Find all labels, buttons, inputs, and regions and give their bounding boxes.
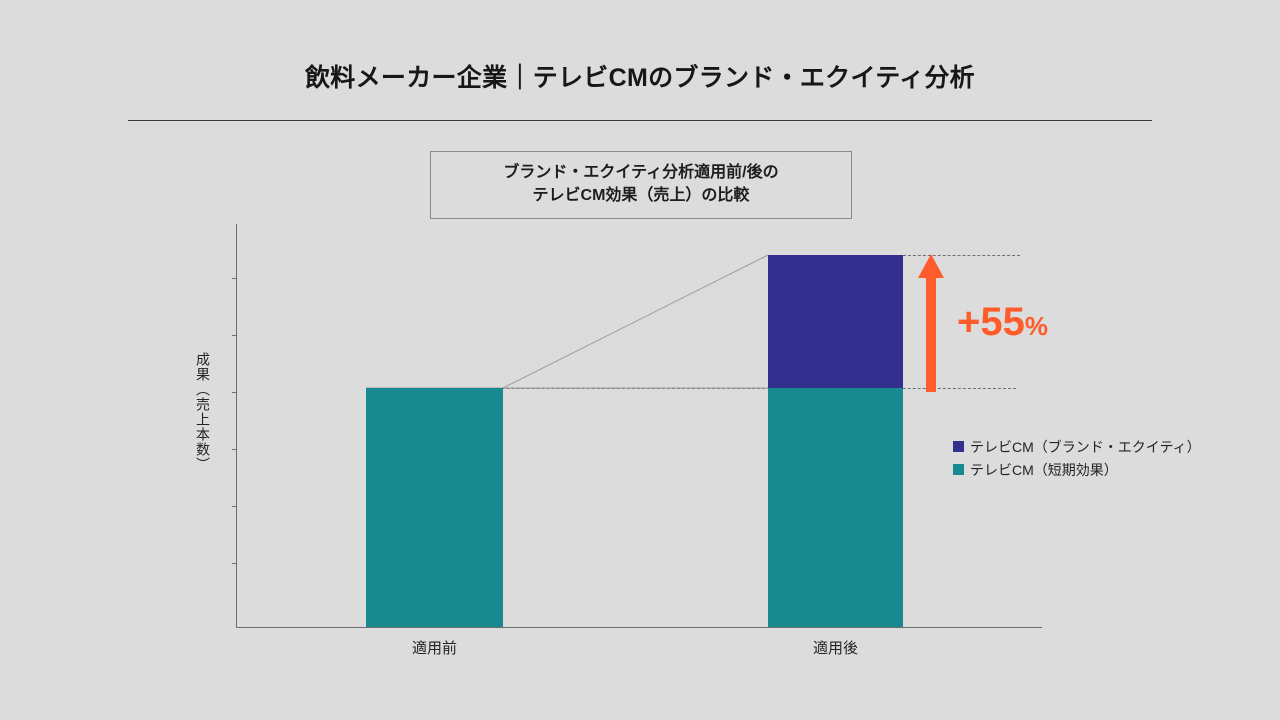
y-axis-tick <box>232 392 236 393</box>
legend-label-brand-equity: テレビCM（ブランド・エクイティ） <box>970 437 1201 457</box>
chart-legend: テレビCM（ブランド・エクイティ） テレビCM（短期効果） <box>953 435 1201 481</box>
uplift-value: +55 <box>957 300 1025 344</box>
chart-subtitle-box: ブランド・エクイティ分析適用前/後の テレビCM効果（売上）の比較 <box>430 151 852 219</box>
slide-canvas: 飲料メーカー企業｜テレビCMのブランド・エクイティ分析 ブランド・エクイティ分析… <box>0 0 1280 720</box>
legend-swatch-brand-equity-icon <box>953 441 964 452</box>
uplift-arrow-icon <box>913 252 949 394</box>
y-axis-title: 成果（売上本数） <box>188 352 210 472</box>
chart-subtitle-line-1: ブランド・エクイティ分析適用前/後の <box>503 162 778 185</box>
y-axis-tick <box>232 278 236 279</box>
legend-item-brand-equity[interactable]: テレビCM（ブランド・エクイティ） <box>953 435 1201 458</box>
uplift-percentage-label: +55% <box>957 302 1048 342</box>
y-axis-tick <box>232 506 236 507</box>
legend-label-short-term: テレビCM（短期効果） <box>970 460 1118 480</box>
legend-item-short-term[interactable]: テレビCM（短期効果） <box>953 458 1201 481</box>
legend-swatch-short-term-icon <box>953 464 964 475</box>
title-divider <box>128 120 1152 121</box>
bar-after-short-term <box>768 388 903 627</box>
x-axis-label-before: 適用前 <box>366 637 503 658</box>
uplift-unit: % <box>1025 311 1048 341</box>
y-axis-tick <box>232 335 236 336</box>
bar-before-short-term <box>366 388 503 627</box>
chart-subtitle-line-2: テレビCM効果（売上）の比較 <box>533 185 750 208</box>
chart-plot-area: 適用前 適用後 <box>236 224 1042 628</box>
y-axis-tick <box>232 449 236 450</box>
y-axis-tick <box>232 563 236 564</box>
bar-after-brand-equity <box>768 255 903 388</box>
page-title: 飲料メーカー企業｜テレビCMのブランド・エクイティ分析 <box>0 58 1280 94</box>
x-axis-line <box>236 627 1042 628</box>
y-axis-line <box>236 224 237 628</box>
x-axis-label-after: 適用後 <box>768 637 903 658</box>
